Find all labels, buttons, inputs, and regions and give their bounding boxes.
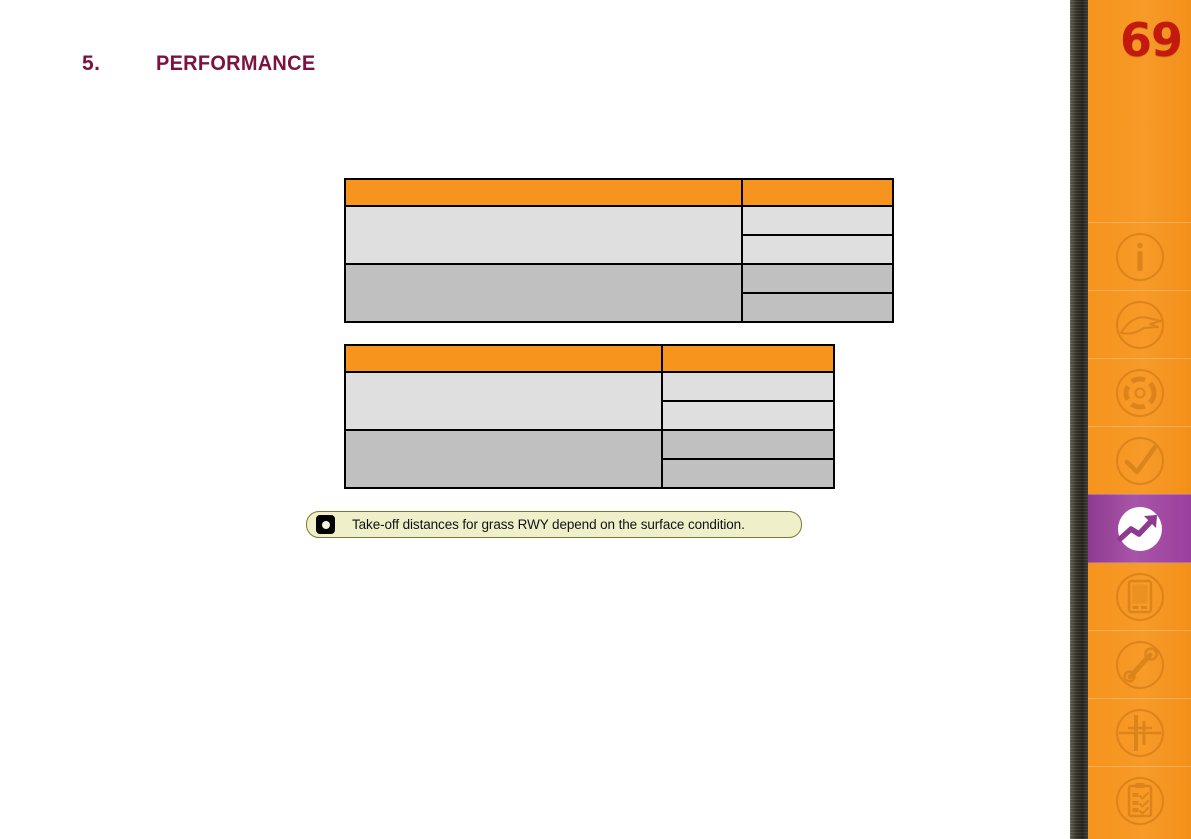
row-value-cell bbox=[742, 206, 893, 235]
aircraft-icon bbox=[1114, 299, 1166, 351]
header-cell-right bbox=[742, 179, 893, 206]
table-row bbox=[345, 264, 893, 293]
sidebar-tab-limitations[interactable] bbox=[1088, 290, 1191, 359]
table-header-row bbox=[345, 345, 834, 372]
row-label-cell bbox=[345, 372, 662, 430]
sidebar-tab-checklists[interactable] bbox=[1088, 766, 1191, 835]
header-cell-left bbox=[345, 179, 742, 206]
row-value-cell bbox=[742, 264, 893, 293]
header-cell-left bbox=[345, 345, 662, 372]
sidebar-tab-general-information[interactable] bbox=[1088, 222, 1191, 291]
row-value-cell bbox=[662, 459, 834, 488]
row-value-cell bbox=[742, 293, 893, 322]
tab-column: 69 bbox=[1088, 0, 1191, 839]
row-value-cell bbox=[662, 430, 834, 459]
table-row bbox=[345, 430, 834, 459]
binding-spine bbox=[1070, 0, 1088, 839]
row-label-cell bbox=[345, 206, 742, 264]
row-value-cell bbox=[742, 235, 893, 264]
row-value-cell bbox=[662, 372, 834, 401]
section-title: PERFORMANCE bbox=[156, 52, 315, 76]
sidebar-tab-normal-procedures[interactable] bbox=[1088, 426, 1191, 495]
table-row bbox=[345, 206, 893, 235]
row-label-cell bbox=[345, 430, 662, 488]
crosshair-icon bbox=[1114, 707, 1166, 759]
section-number: 5. bbox=[82, 52, 156, 76]
landing-distance-table bbox=[344, 344, 835, 489]
wrench-icon bbox=[1114, 639, 1166, 691]
page-canvas: 5. PERFORMANCE bbox=[0, 0, 1191, 839]
page-title: 5. PERFORMANCE bbox=[82, 52, 324, 76]
sidebar-tab-performance[interactable] bbox=[1088, 494, 1191, 563]
note-text: Take-off distances for grass RWY depend … bbox=[352, 517, 745, 532]
note-callout: Take-off distances for grass RWY depend … bbox=[306, 511, 802, 538]
checkmark-icon bbox=[1114, 435, 1166, 487]
sidebar-tab-weight-and-balance[interactable] bbox=[1088, 562, 1191, 631]
sidebar-tab-supplements[interactable] bbox=[1088, 698, 1191, 767]
row-label-cell bbox=[345, 264, 742, 322]
header-cell-right bbox=[662, 345, 834, 372]
performance-icon bbox=[1114, 503, 1166, 555]
section-tab-sidebar: 69 bbox=[1070, 0, 1191, 839]
table-row bbox=[345, 372, 834, 401]
checklist-icon bbox=[1114, 775, 1166, 827]
row-value-cell bbox=[662, 401, 834, 430]
note-bullet-icon bbox=[316, 515, 335, 534]
page-number: 69 bbox=[1120, 13, 1182, 67]
sidebar-tab-emergency-procedures[interactable] bbox=[1088, 358, 1191, 427]
sidebar-tab-handling-and-service[interactable] bbox=[1088, 630, 1191, 699]
book-icon bbox=[1114, 571, 1166, 623]
propeller-icon bbox=[1114, 367, 1166, 419]
table-header-row bbox=[345, 179, 893, 206]
info-icon bbox=[1114, 231, 1166, 283]
take-off-distance-table bbox=[344, 178, 894, 323]
